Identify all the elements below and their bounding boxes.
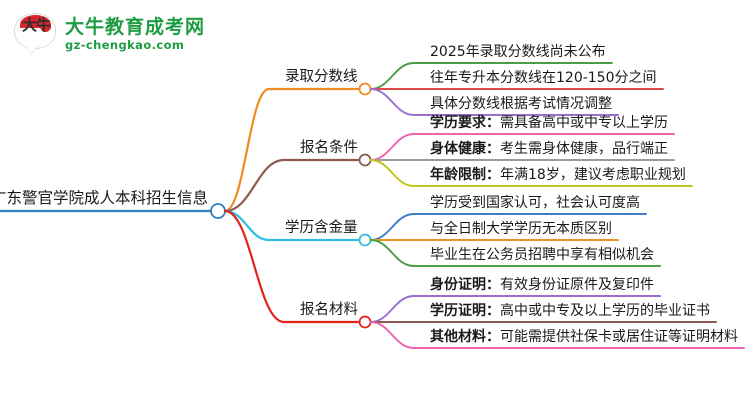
mindmap-leaf-4-3[interactable]: 其他材料：可能需提供社保卡或居住证等证明材料	[430, 328, 738, 346]
mindmap-leaf-2-1[interactable]: 学历要求：需具备高中或中专以上学历	[430, 114, 668, 132]
mindmap-leaf-key: 学历要求：	[430, 114, 500, 132]
mindmap-leaf-text: 学历受到国家认可，社会认可度高	[430, 194, 640, 212]
logo-site-name: 大牛教育成考网	[65, 16, 205, 38]
mindmap-leaf-key: 身份证明：	[430, 276, 500, 294]
mindmap-leaf-text: 有效身份证原件及复印件	[500, 276, 654, 294]
mindmap-leaf-text: 与全日制大学学历无本质区别	[430, 220, 612, 238]
mindmap-leaf-4-1[interactable]: 身份证明：有效身份证原件及复印件	[430, 276, 654, 294]
mindmap-leaf-3-3[interactable]: 毕业生在公务员招聘中享有相似机会	[430, 246, 654, 264]
mindmap-branch-label: 学历含金量	[285, 219, 358, 237]
logo-mark-text: 大牛	[21, 19, 51, 47]
mindmap-leaf-text: 往年专升本分数线在120-150分之间	[430, 69, 657, 87]
mindmap-leaf-text: 年满18岁，建议考虑职业规划	[500, 166, 686, 184]
mindmap-branch-1[interactable]: 录取分数线	[285, 68, 358, 86]
mindmap-branch-label: 报名条件	[300, 139, 358, 157]
mindmap-branch-2[interactable]: 报名条件	[300, 139, 358, 157]
mindmap-leaf-key: 学历证明：	[430, 302, 500, 320]
mindmap-leaf-2-2[interactable]: 身体健康：考生需身体健康，品行端正	[430, 140, 668, 158]
mindmap-leaf-text: 毕业生在公务员招聘中享有相似机会	[430, 246, 654, 264]
mindmap-leaf-key: 身体健康：	[430, 140, 500, 158]
mindmap-leaf-text: 高中或中专及以上学历的毕业证书	[500, 302, 710, 320]
mindmap-leaf-key: 其他材料：	[430, 328, 500, 346]
mindmap-leaf-text: 具体分数线根据考试情况调整	[430, 95, 612, 113]
mindmap-canvas: 大牛 大牛教育成考网 gz-chengkao.com 广东警官学院成人本科招生信…	[0, 0, 750, 410]
mindmap-leaf-text: 需具备高中或中专以上学历	[500, 114, 668, 132]
mindmap-leaf-text: 2025年录取分数线尚未公布	[430, 43, 606, 61]
mindmap-leaf-3-1[interactable]: 学历受到国家认可，社会认可度高	[430, 194, 640, 212]
mindmap-leaf-text: 可能需提供社保卡或居住证等证明材料	[500, 328, 738, 346]
mindmap-root-node[interactable]: 广东警官学院成人本科招生信息	[0, 189, 208, 208]
logo-site-domain: gz-chengkao.com	[65, 38, 205, 52]
logo-mark-icon: 大牛	[14, 12, 58, 56]
mindmap-leaf-2-3[interactable]: 年龄限制：年满18岁，建议考虑职业规划	[430, 166, 686, 184]
logo-wordmark: 大牛教育成考网 gz-chengkao.com	[65, 16, 205, 52]
mindmap-branch-4[interactable]: 报名材料	[300, 301, 358, 319]
mindmap-branch-3[interactable]: 学历含金量	[285, 219, 358, 237]
mindmap-branch-label: 报名材料	[300, 301, 358, 319]
mindmap-leaf-1-2[interactable]: 往年专升本分数线在120-150分之间	[430, 69, 657, 87]
mindmap-leaf-4-2[interactable]: 学历证明：高中或中专及以上学历的毕业证书	[430, 302, 710, 320]
mindmap-root-label: 广东警官学院成人本科招生信息	[0, 189, 208, 208]
mindmap-leaf-1-1[interactable]: 2025年录取分数线尚未公布	[430, 43, 606, 61]
mindmap-leaf-1-3[interactable]: 具体分数线根据考试情况调整	[430, 95, 612, 113]
mindmap-leaf-key: 年龄限制：	[430, 166, 500, 184]
mindmap-leaf-3-2[interactable]: 与全日制大学学历无本质区别	[430, 220, 612, 238]
site-logo: 大牛 大牛教育成考网 gz-chengkao.com	[14, 12, 205, 56]
mindmap-leaf-text: 考生需身体健康，品行端正	[500, 140, 668, 158]
mindmap-branch-label: 录取分数线	[285, 68, 358, 86]
